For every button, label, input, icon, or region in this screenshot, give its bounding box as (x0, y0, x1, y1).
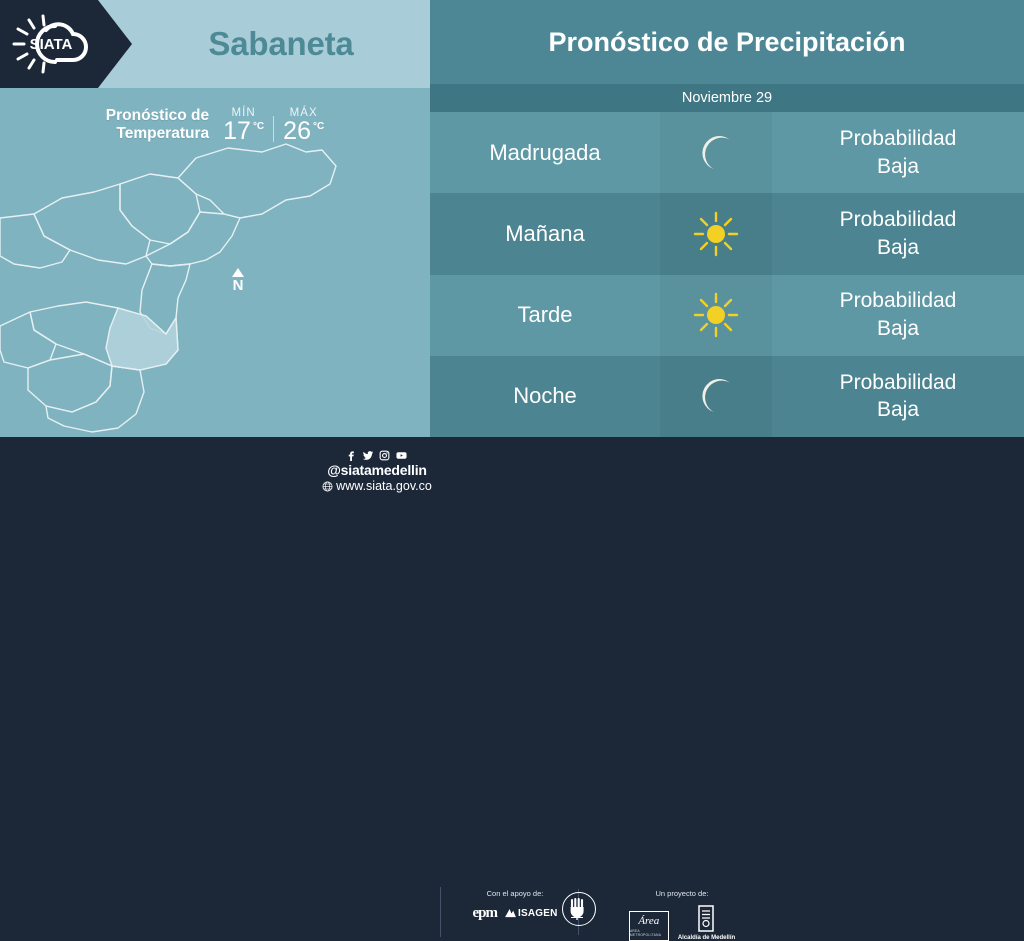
instagram-icon[interactable] (379, 450, 390, 461)
alcaldia-logo: Alcaldía de Medellín (678, 905, 735, 941)
support-logos: epm ISAGEN (472, 905, 557, 922)
temperature-block: Pronóstico de Temperatura MÍN 17 °C MÁX … (0, 95, 430, 155)
map-region-barbosa (178, 144, 336, 218)
max-value-row: 26 °C (283, 119, 324, 144)
min-unit: °C (253, 121, 264, 132)
project-logos: Área AREA METROPOLITANA Alcaldía de Mede… (629, 905, 735, 941)
globe-icon (322, 481, 333, 492)
left-panel: SIATA Sabaneta Pronóstico de Temperatura… (0, 0, 430, 437)
weather-icon-cell (660, 275, 772, 356)
probability-line1: Probabilidad (840, 369, 957, 397)
map-region-caldas (46, 366, 144, 432)
support-caption: Con el apoyo de: (487, 889, 544, 898)
aburra-valley-map: N (0, 140, 430, 437)
probability-cell: Probabilidad Baja (772, 193, 1024, 274)
temperature-title-line1: Pronóstico de (106, 107, 209, 124)
website-row[interactable]: www.siata.gov.co (322, 479, 432, 493)
social-handle[interactable]: @siatamedellin (327, 462, 427, 478)
forecast-table: Madrugada Probabilidad Baja Mañana (430, 112, 1024, 437)
min-value-row: 17 °C (223, 119, 264, 144)
probability-line1: Probabilidad (840, 287, 957, 315)
epm-logo: epm (472, 905, 497, 922)
alcaldia-label: Alcaldía de Medellín (678, 935, 735, 941)
support-block: Con el apoyo de: epm ISAGEN (455, 889, 575, 922)
period-label: Noche (430, 356, 660, 437)
youtube-icon[interactable] (395, 450, 408, 461)
precipitation-panel: Pronóstico de Precipitación Noviembre 29… (430, 0, 1024, 437)
isagen-label: ISAGEN (518, 908, 558, 919)
weather-icon-cell (660, 356, 772, 437)
project-block: Un proyecto de: Área AREA METROPOLITANA … (592, 889, 772, 941)
twitter-icon[interactable] (362, 450, 374, 461)
compass-arrow (232, 268, 244, 277)
weather-icon-cell (660, 193, 772, 274)
min-value: 17 (223, 119, 251, 144)
probability-cell: Probabilidad Baja (772, 112, 1024, 193)
map-region-bello-norte (0, 214, 70, 268)
weather-infographic: SIATA Sabaneta Pronóstico de Temperatura… (0, 0, 1024, 512)
temperature-values: MÍN 17 °C MÁX 26 °C (223, 107, 324, 144)
period-label: Tarde (430, 275, 660, 356)
footer: @siatamedellin www.siata.gov.co Con el a… (0, 437, 1024, 512)
social-block: @siatamedellin www.siata.gov.co (312, 450, 442, 493)
footer-divider-left (440, 887, 441, 937)
map-svg (0, 140, 430, 437)
table-row: Mañana (430, 193, 1024, 274)
precipitation-title: Pronóstico de Precipitación (430, 0, 1024, 84)
map-highlight-sabaneta (106, 308, 178, 370)
isagen-logo: ISAGEN (505, 908, 558, 919)
table-row: Madrugada Probabilidad Baja (430, 112, 1024, 193)
temperature-min: MÍN 17 °C (223, 107, 264, 144)
temperature-title: Pronóstico de Temperatura (106, 107, 209, 144)
social-icons (346, 450, 408, 461)
temperature-max: MÁX 26 °C (283, 107, 324, 144)
forecast-date: Noviembre 29 (430, 84, 1024, 112)
sun-icon (693, 292, 739, 338)
area-label: Área (638, 916, 659, 927)
probability-cell: Probabilidad Baja (772, 275, 1024, 356)
probability-line2: Baja (877, 396, 919, 424)
period-label: Mañana (430, 193, 660, 274)
probability-line2: Baja (877, 234, 919, 262)
max-value: 26 (283, 119, 311, 144)
probability-line1: Probabilidad (840, 206, 957, 234)
map-region-east (146, 212, 240, 266)
map-region-girardota (120, 174, 200, 244)
table-row: Noche Probabilidad Baja (430, 356, 1024, 437)
map-region-west (0, 312, 56, 368)
sun-icon (693, 211, 739, 257)
compass-north-icon: N (225, 268, 251, 308)
project-caption: Un proyecto de: (656, 889, 709, 898)
max-unit: °C (313, 121, 324, 132)
temperature-title-line2: Temperatura (116, 125, 209, 142)
compass-label: N (233, 278, 244, 293)
probability-line1: Probabilidad (840, 125, 957, 153)
siata-logo-icon: SIATA (10, 12, 96, 76)
moon-icon (693, 373, 739, 419)
area-metropolitana-logo: Área AREA METROPOLITANA (629, 911, 669, 941)
map-region-itagui (28, 354, 112, 412)
period-label: Madrugada (430, 112, 660, 193)
area-sublabel: AREA METROPOLITANA (630, 929, 668, 937)
svg-text:SIATA: SIATA (30, 36, 73, 53)
isagen-mark-icon (505, 909, 516, 918)
institutional-seal-icon (562, 892, 596, 926)
weather-icon-cell (660, 112, 772, 193)
alcaldia-mark-icon (695, 905, 717, 933)
city-title: Sabaneta (132, 0, 430, 88)
table-row: Tarde (430, 275, 1024, 356)
probability-cell: Probabilidad Baja (772, 356, 1024, 437)
probability-line2: Baja (877, 315, 919, 343)
map-region-copacabana (34, 184, 150, 264)
facebook-icon[interactable] (346, 450, 357, 461)
probability-line2: Baja (877, 153, 919, 181)
temperature-divider (273, 116, 274, 142)
seal-glyph-icon (568, 897, 590, 921)
website-url[interactable]: www.siata.gov.co (336, 479, 432, 493)
moon-icon (693, 130, 739, 176)
